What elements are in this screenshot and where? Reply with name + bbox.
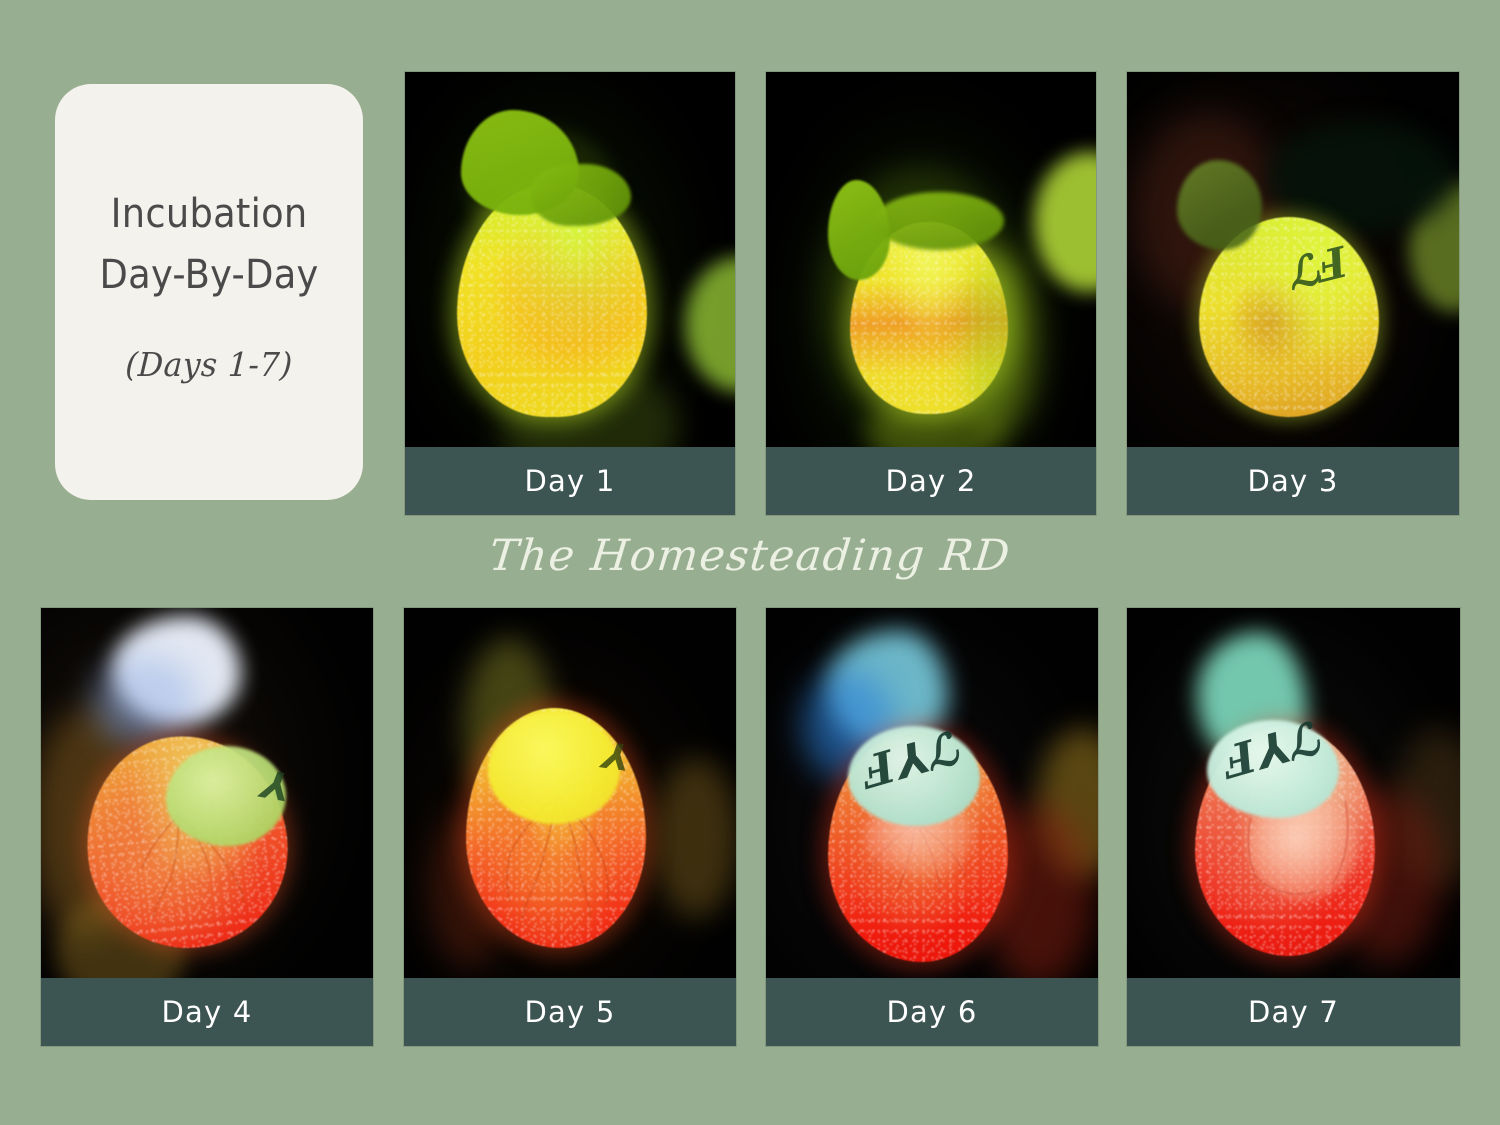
photo-panel-day-5[interactable]: ⅄ Day 5 — [404, 608, 736, 1046]
watermark-text: The Homesteading RD — [0, 531, 1500, 581]
photo-panel-day-3[interactable]: ℒℲ Day 3 — [1127, 72, 1459, 515]
caption-day-3: Day 3 — [1127, 447, 1459, 515]
air-cell-rim-day-2 — [874, 192, 1004, 250]
caption-day-2: Day 2 — [766, 447, 1096, 515]
background-egg-blur — [1034, 152, 1096, 292]
air-cell-day-5 — [488, 712, 620, 824]
photo-panel-day-4[interactable]: ⅄ Day 4 — [41, 608, 373, 1046]
air-cell-day-4 — [166, 746, 286, 846]
air-cell-day-7 — [1207, 720, 1339, 818]
flashlight-beam-spill — [93, 656, 198, 746]
caption-day-4: Day 4 — [41, 978, 373, 1046]
caption-day-1: Day 1 — [405, 447, 735, 515]
air-cell-highlight-day-1 — [531, 164, 631, 226]
collage-canvas: Incubation Day-By-Day (Days 1-7) The Hom… — [0, 0, 1500, 1125]
page-subtitle: (Days 1-7) — [124, 345, 293, 384]
caption-day-7: Day 7 — [1127, 978, 1460, 1046]
caption-day-5: Day 5 — [404, 978, 736, 1046]
egg-glow-halo — [966, 252, 1036, 432]
background-egg-blur — [685, 257, 735, 392]
photo-panel-day-7[interactable]: Ⅎ⅄ℒ Day 7 — [1127, 608, 1460, 1046]
photo-panel-day-2[interactable]: Day 2 — [766, 72, 1096, 515]
air-cell-day-3 — [1177, 160, 1262, 250]
photo-panel-day-1[interactable]: Day 1 — [405, 72, 735, 515]
dark-shadow-blur — [1267, 122, 1457, 232]
page-title: Incubation Day-By-Day — [99, 184, 318, 306]
title-card: Incubation Day-By-Day (Days 1-7) — [55, 84, 363, 500]
background-egg-blur-right — [654, 758, 736, 918]
caption-day-6: Day 6 — [766, 978, 1098, 1046]
photo-panel-day-6[interactable]: Ⅎ⅄ℒ Day 6 — [766, 608, 1098, 1046]
air-cell-day-6 — [848, 726, 980, 826]
